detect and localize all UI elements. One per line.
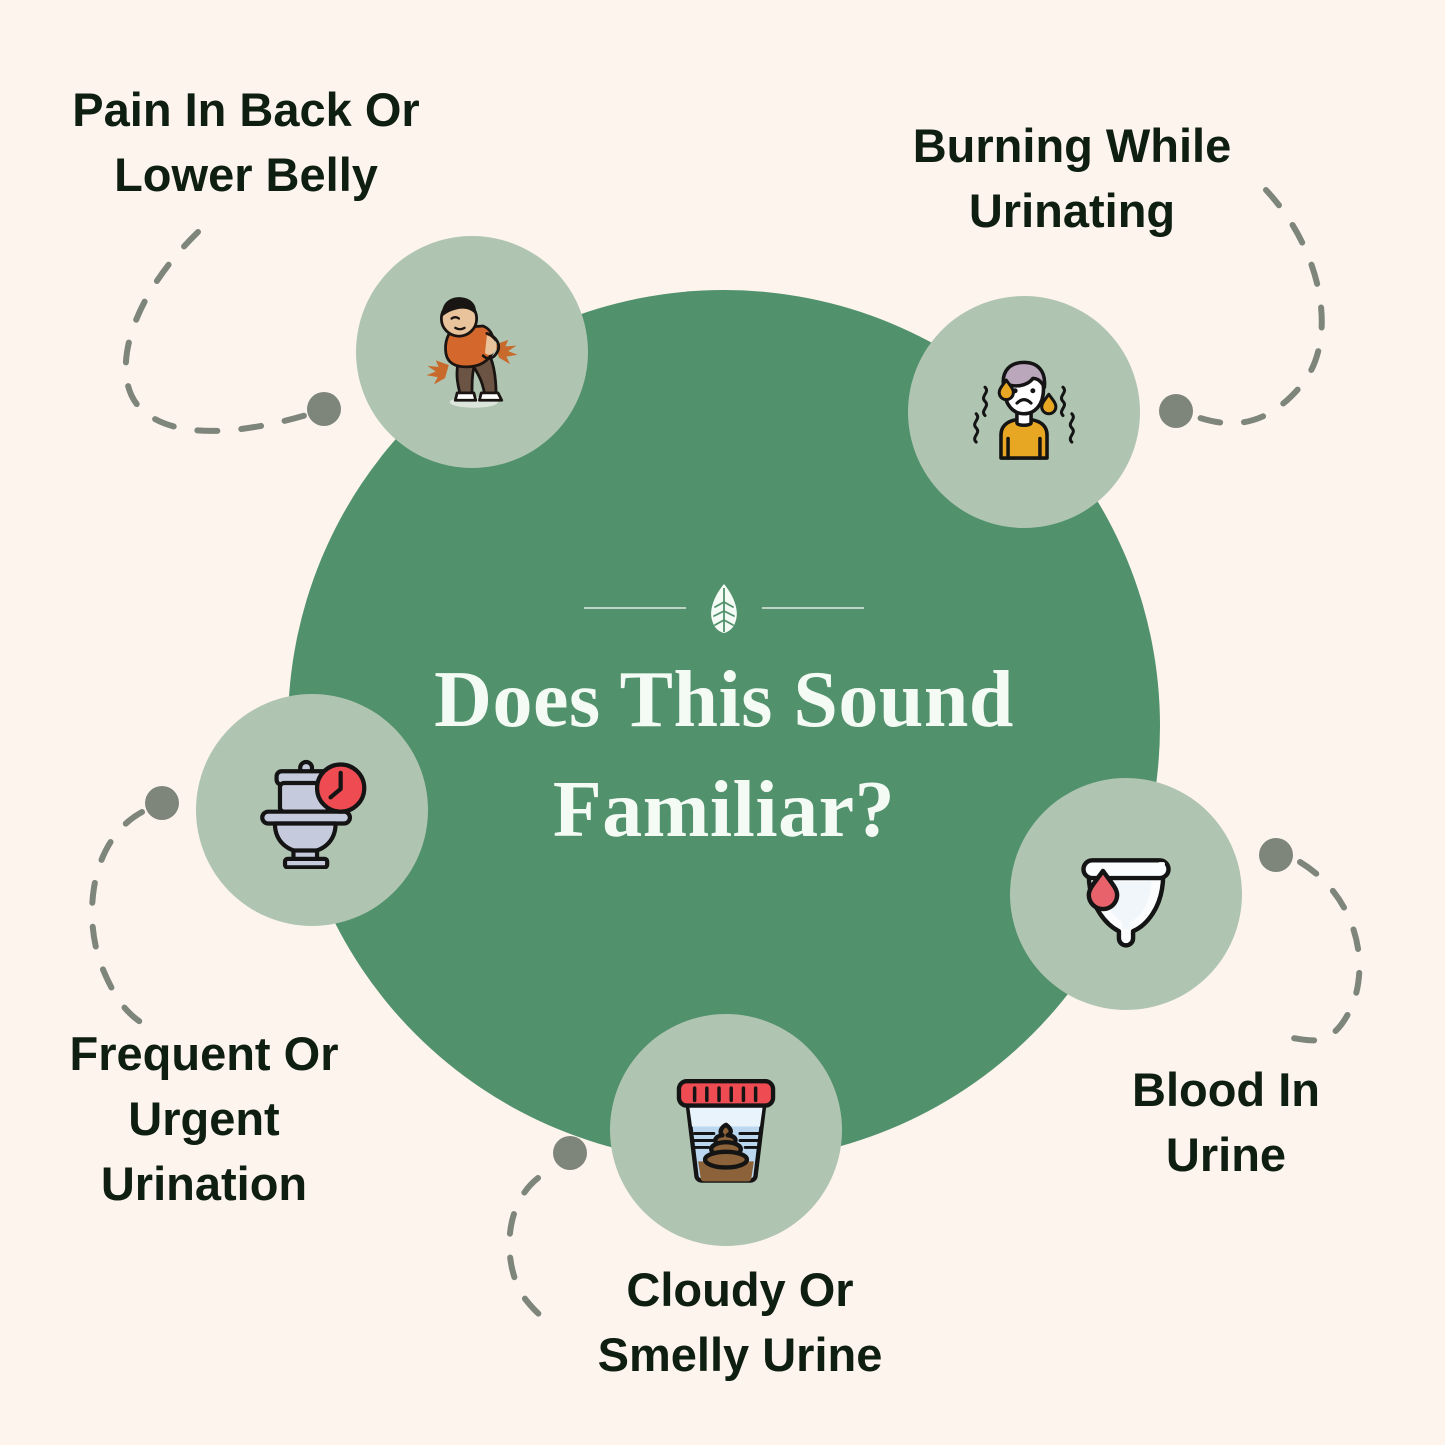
- symptom-label-back-pain: Pain In Back Or Lower Belly: [20, 78, 472, 208]
- symptom-label-burning-urination: Burning While Urinating: [852, 114, 1292, 244]
- leaf-divider: [288, 582, 1160, 634]
- connector-dot-back-pain: [307, 392, 341, 426]
- connector-dot-cloudy: [553, 1136, 587, 1170]
- divider-rule-right: [762, 607, 864, 609]
- urine-sample-cup-icon: [665, 1069, 787, 1191]
- infographic-canvas: Does This Sound Familiar?: [0, 0, 1445, 1445]
- menstrual-cup-with-blood-drop-icon: [1064, 832, 1188, 956]
- symptom-label-blood-in-urine: Blood In Urine: [1072, 1058, 1380, 1188]
- toilet-with-clock-icon: [253, 751, 371, 869]
- symptom-icon-back-pain[interactable]: [356, 236, 588, 468]
- symptom-icon-cloudy-urine[interactable]: [610, 1014, 842, 1246]
- symptom-icon-burning-urination[interactable]: [908, 296, 1140, 528]
- symptom-label-frequent-urination: Frequent Or Urgent Urination: [20, 1022, 388, 1217]
- connector-arc-back-pain: [126, 232, 310, 431]
- symptom-icon-frequent-urination[interactable]: [196, 694, 428, 926]
- leaf-icon: [704, 582, 744, 634]
- connector-dot-burning: [1159, 394, 1193, 428]
- connector-dot-frequent: [145, 786, 179, 820]
- symptom-label-cloudy-urine: Cloudy Or Smelly Urine: [520, 1258, 960, 1388]
- connector-arc-frequent: [92, 812, 150, 1028]
- connector-dot-blood: [1259, 838, 1293, 872]
- sweating-person-icon: [962, 350, 1086, 474]
- headline-line-1: Does This Sound: [288, 645, 1160, 755]
- symptom-icon-blood-in-urine[interactable]: [1010, 778, 1242, 1010]
- person-with-back-pain-icon: [407, 287, 537, 417]
- connector-arc-blood: [1292, 862, 1359, 1040]
- divider-rule-left: [584, 607, 686, 609]
